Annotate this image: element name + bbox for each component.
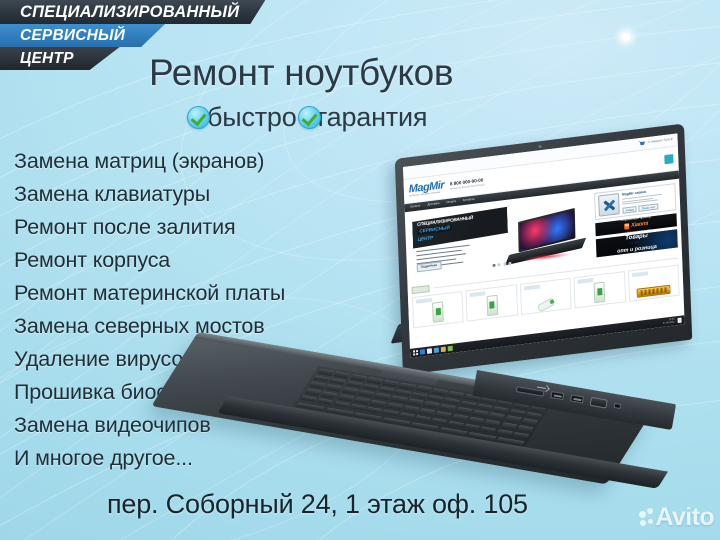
taskbar-right-group: 12:04 27.05.2021 — [663, 317, 682, 325]
hero-slider-dots[interactable] — [492, 262, 511, 267]
tagline-fast: быстро — [207, 104, 297, 131]
nav-item-catalog[interactable]: Каталог — [410, 205, 420, 210]
aa-battery-icon — [637, 285, 671, 298]
nav-item-contacts[interactable]: Контакты — [463, 198, 475, 203]
avito-dots-icon — [639, 507, 654, 529]
hero-banner-line3: ЦЕНТР — [418, 235, 434, 243]
ribbon-service-label: СЕРВИСНЫЙ — [20, 27, 125, 45]
vga-port-icon — [590, 397, 608, 409]
xiaomi-mark-icon: MI — [624, 223, 630, 229]
check-circle-icon — [298, 106, 321, 129]
usb-port-icon — [550, 391, 564, 401]
check-circle-icon — [187, 106, 210, 129]
promo-goods-line2: опт и розница — [617, 244, 657, 256]
cart-summary: 0 товаров / 0,00 ₽ — [648, 138, 673, 145]
ribbon-specialized: СПЕЦИАЛИЗИРОВАННЫЙ — [0, 0, 265, 24]
product-card[interactable] — [574, 271, 626, 308]
product-card[interactable] — [628, 264, 680, 301]
shopping-cart-icon[interactable] — [638, 140, 645, 147]
battery-pack-icon — [594, 282, 606, 303]
laptop-base — [198, 332, 658, 440]
battery-pack-icon — [432, 301, 444, 322]
hero-gaming-laptop-image — [508, 211, 583, 264]
usb-port-icon — [570, 394, 584, 404]
xiaomi-mark-icon: MI — [630, 241, 633, 245]
ribbon-service: СЕРВИСНЫЙ — [0, 24, 165, 47]
sparkle-dot — [622, 33, 630, 41]
taskbar-clock[interactable]: 12:04 27.05.2021 — [663, 318, 675, 325]
site-phone: 8 800 000-00-00 звонок по России бесплат… — [450, 177, 485, 190]
tagline-row: быстро гарантия — [187, 104, 427, 131]
nav-item-delivery[interactable]: Доставка — [427, 202, 439, 207]
battery-pack-icon — [486, 295, 498, 316]
laptop-photo: 0 товаров / 0,00 ₽ MagMir интернет-магаз… — [198, 160, 678, 480]
stylus-pen-icon — [537, 297, 556, 312]
tools-wrench-screwdriver-icon — [598, 193, 620, 217]
tagline-warranty: гарантия — [318, 104, 428, 131]
poster-canvas: СПЕЦИАЛИЗИРОВАННЫЙ СЕРВИСНЫЙ ЦЕНТР Ремон… — [0, 0, 720, 540]
notifications-icon[interactable] — [677, 318, 682, 323]
site-logo[interactable]: MagMir интернет-магазин техники — [409, 180, 445, 198]
nav-item-payment[interactable]: Оплата — [446, 200, 456, 205]
promo-service-request-button[interactable]: Заявка — [623, 206, 638, 214]
promo-service-pricelist-button[interactable]: Прайс-лист — [639, 203, 659, 212]
avito-watermark: Avito — [639, 503, 714, 532]
product-card[interactable] — [412, 291, 464, 328]
hero-banner: СПЕЦИАЛИЗИРОВАННЫЙ СЕРВИСНЫЙ ЦЕНТР — [412, 207, 508, 249]
product-card[interactable] — [520, 278, 572, 315]
avito-watermark-label: Avito — [655, 503, 714, 532]
laptop-screen: 0 товаров / 0,00 ₽ MagMir интернет-магаз… — [403, 133, 685, 358]
ribbon-specialized-label: СПЕЦИАЛИЗИРОВАННЫЙ — [20, 3, 239, 22]
taskbar-clock-date: 27.05.2021 — [663, 320, 675, 324]
ribbon-center-label: ЦЕНТР — [20, 50, 74, 68]
hero-more-button[interactable]: Подробнее — [417, 261, 442, 272]
product-card[interactable] — [466, 284, 518, 321]
page-title: Ремонт ноутбуков — [149, 54, 453, 91]
kensington-lock-slot-icon — [614, 403, 622, 410]
hero-side-promos: MagMir сервис Заявка Прайс-лист Сервисны… — [594, 183, 678, 257]
address-line: пер. Соборный 24, 1 этаж оф. 105 — [107, 489, 528, 520]
webcam-icon — [538, 145, 541, 148]
xiaomi-brand-name: Xiaomi — [634, 240, 643, 245]
search-icon[interactable] — [664, 154, 673, 164]
ribbon-center: ЦЕНТР — [0, 47, 120, 70]
